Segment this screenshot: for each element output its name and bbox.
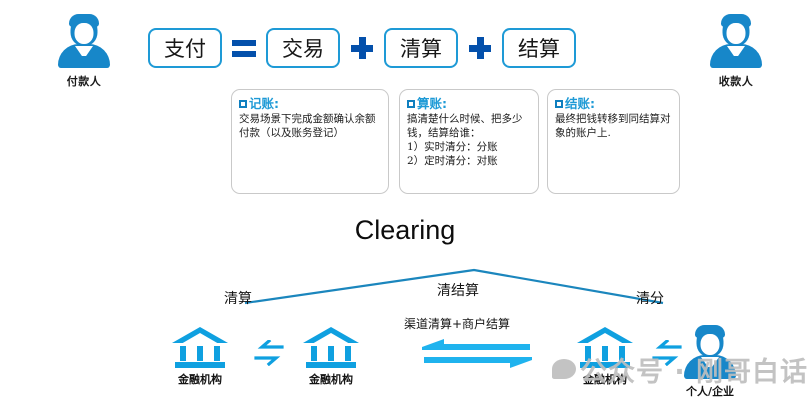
entity-label: 金融机构 [288, 371, 374, 387]
note-card-settlement: 结账: 最终把钱转移到同结算对象的账户上. [547, 89, 680, 194]
entity-label: 金融机构 [157, 371, 243, 387]
note-card-bookkeeping: 记账: 交易场景下完成金额确认余额付款（以及账务登记） [231, 89, 389, 194]
square-bullet-icon [407, 100, 415, 108]
bank-icon [303, 327, 359, 369]
branch-label-clearing: 清算 [224, 288, 252, 308]
equation-term-payment: 支付 [148, 28, 222, 68]
entity-financial-institution-2: 金融机构 [288, 327, 374, 387]
note-title-text: 结账: [565, 96, 595, 111]
equation-term-clearing: 清算 [384, 28, 458, 68]
actor-payer-label: 付款人 [36, 73, 132, 89]
actor-payee-label: 收款人 [688, 73, 784, 89]
branch-label-clear-settle: 清结算 [437, 280, 479, 300]
equation-term-transaction: 交易 [266, 28, 340, 68]
entity-financial-institution-1: 金融机构 [157, 327, 243, 387]
square-bullet-icon [555, 100, 563, 108]
note-body: 最终把钱转移到同结算对象的账户上. [555, 112, 672, 140]
entity-individual-enterprise: 个人/企业 [670, 325, 750, 399]
entity-label: 金融机构 [562, 371, 648, 387]
list-item: 2）定时清分：对账 [407, 154, 531, 168]
entity-label: 个人/企业 [670, 383, 750, 399]
note-list: 1）实时清分：分账 2）定时清分：对账 [407, 140, 531, 168]
branch-sublabel-channel-merchant: 渠道清算+商户结算 [404, 315, 510, 332]
note-title-text: 记账: [249, 96, 279, 111]
note-title: 结账: [555, 96, 672, 111]
actor-payee: 收款人 [688, 14, 784, 89]
branch-label-allocation: 清分 [636, 288, 664, 308]
equation-term-settlement: 结算 [502, 28, 576, 68]
clearing-title: Clearing [0, 215, 810, 246]
double-arrow-icon [418, 336, 536, 374]
plus-icon [458, 37, 502, 59]
square-bullet-icon [239, 100, 247, 108]
plus-icon [340, 37, 384, 59]
note-title: 记账: [239, 96, 381, 111]
note-card-accounting: 算账: 搞清楚什么时候、把多少钱，结算给谁： 1）实时清分：分账 2）定时清分：… [399, 89, 539, 194]
note-body: 搞清楚什么时候、把多少钱，结算给谁： [407, 112, 531, 140]
entity-financial-institution-3: 金融机构 [562, 327, 648, 387]
payment-equation: 支付 交易 清算 结算 [148, 26, 576, 70]
note-body: 交易场景下完成金额确认余额付款（以及账务登记） [239, 112, 381, 140]
person-icon [681, 325, 739, 381]
list-item: 1）实时清分：分账 [407, 140, 531, 154]
person-icon [707, 14, 765, 70]
actor-payer: 付款人 [36, 14, 132, 89]
diagram-canvas: 付款人 收款人 支付 交易 清算 结算 记账: 交易场景下完成金额确认余额付款（… [0, 0, 810, 403]
tree-connector-lines [0, 248, 810, 308]
equals-icon [222, 40, 266, 57]
bank-icon [172, 327, 228, 369]
note-title-text: 算账: [417, 96, 447, 111]
note-title: 算账: [407, 96, 531, 111]
bank-icon [577, 327, 633, 369]
swap-arrows-icon [252, 340, 286, 366]
person-icon [55, 14, 113, 70]
